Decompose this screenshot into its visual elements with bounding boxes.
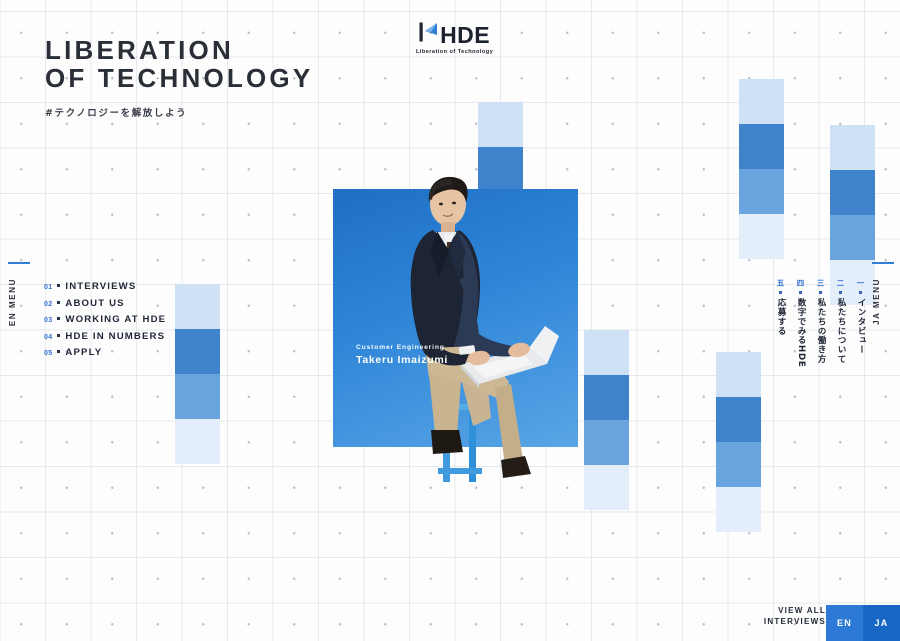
en-menu-item-apply[interactable]: 05 APPLY (44, 347, 166, 364)
language-switcher: EN JA (826, 605, 900, 641)
en-menu-rail-label: EN MENU (8, 278, 17, 326)
bullet-icon (839, 291, 842, 294)
ja-menu-item-label: 応募する (775, 298, 786, 336)
ja-menu-item-number: 二 (835, 279, 846, 287)
en-menu-rail: EN MENU (8, 262, 34, 326)
en-menu-item-label: HDE IN NUMBERS (65, 331, 165, 342)
bullet-icon (57, 334, 60, 337)
decor-tile (478, 147, 523, 192)
decor-tile-column (716, 352, 761, 532)
page-title-line-1: LIBERATION (45, 35, 234, 65)
ja-menu-item-apply[interactable]: 五 応募する (775, 279, 786, 336)
decor-tile (739, 124, 784, 169)
ja-menu-item-number: 五 (775, 279, 786, 287)
ja-menu-item-label: 数字でみるHDE (795, 298, 806, 368)
ja-menu-item-label: 私たちについて (835, 298, 846, 364)
en-menu-item-interviews[interactable]: 01 INTERVIEWS (44, 281, 166, 298)
en-menu-item-number: 04 (44, 334, 52, 341)
page-title-line-2: OF TECHNOLOGY (45, 63, 313, 93)
decor-tile (175, 419, 220, 464)
decor-tile (716, 397, 761, 442)
ja-menu: 一 インタビュー 二 私たちについて 三 私たちの働き方 四 数字でみるHDE … (775, 279, 866, 368)
decor-tile (584, 375, 629, 420)
bullet-icon (57, 284, 60, 287)
decor-tile (584, 330, 629, 375)
decor-tile (175, 329, 220, 374)
ja-menu-item-about-us[interactable]: 二 私たちについて (835, 279, 846, 364)
lang-button-ja[interactable]: JA (863, 605, 900, 641)
en-menu-item-label: INTERVIEWS (65, 281, 136, 292)
en-menu-item-number: 03 (44, 317, 52, 324)
decor-tile-column (175, 284, 220, 464)
bullet-icon (859, 291, 862, 294)
decor-tile (739, 169, 784, 214)
page-subtitle: #テクノロジーを解放しよう (45, 105, 313, 119)
bullet-icon (57, 317, 60, 320)
decor-tile-column (584, 330, 629, 510)
bullet-icon (57, 301, 60, 304)
ja-menu-item-label: 私たちの働き方 (815, 298, 826, 364)
decor-tile (478, 102, 523, 147)
decor-tile (584, 420, 629, 465)
bullet-icon (819, 291, 822, 294)
page-root: LIBERATION OF TECHNOLOGY #テクノロジーを解放しよう H… (0, 0, 900, 641)
en-menu-item-number: 05 (44, 350, 52, 357)
en-menu-item-number: 01 (44, 284, 52, 291)
decor-tile-column (830, 125, 875, 305)
ja-menu-item-interviews[interactable]: 一 インタビュー (855, 279, 866, 355)
hde-arrow-icon (419, 22, 438, 47)
ja-menu-rail-label: JA MENU (872, 278, 881, 325)
ja-menu-item-working-style[interactable]: 三 私たちの働き方 (815, 279, 826, 364)
hero-heading-block: LIBERATION OF TECHNOLOGY #テクノロジーを解放しよう (45, 36, 313, 119)
feature-photo-card[interactable]: Customer Engineering Takeru Imaizumi (333, 189, 578, 447)
en-menu-item-number: 02 (44, 301, 52, 308)
decor-tile (716, 352, 761, 397)
lang-button-en[interactable]: EN (826, 605, 863, 641)
en-menu-item-label: APPLY (65, 347, 102, 358)
decor-tile (716, 487, 761, 532)
page-title: LIBERATION OF TECHNOLOGY (45, 36, 313, 92)
en-menu-item-about-us[interactable]: 02 ABOUT US (44, 298, 166, 315)
logo-tagline: Liberation of Technology (416, 49, 493, 55)
logo-wordmark: HDE (440, 24, 490, 46)
ja-menu-item-label: インタビュー (855, 298, 866, 354)
en-menu-item-hde-in-numbers[interactable]: 04 HDE IN NUMBERS (44, 331, 166, 348)
decor-tile (739, 79, 784, 124)
site-logo[interactable]: HDE Liberation of Technology (416, 22, 493, 55)
ja-menu-item-number: 三 (815, 279, 826, 287)
ja-menu-item-number: 四 (795, 279, 806, 287)
ja-menu-item-number: 一 (855, 279, 866, 287)
view-all-line-2: INTERVIEWS (764, 616, 826, 627)
decor-tile (584, 465, 629, 510)
bullet-icon (799, 291, 802, 294)
decor-tile (716, 442, 761, 487)
en-menu-item-label: WORKING AT HDE (65, 314, 166, 325)
decor-tile (175, 284, 220, 329)
feature-role: Customer Engineering (356, 344, 448, 351)
decor-tile (830, 215, 875, 260)
feature-name: Takeru Imaizumi (356, 354, 448, 366)
rail-accent-line (8, 262, 30, 264)
logo-row: HDE (419, 22, 490, 47)
bullet-icon (779, 291, 782, 294)
ja-menu-item-hde-in-numbers[interactable]: 四 数字でみるHDE (795, 279, 806, 368)
decor-tile (739, 214, 784, 259)
bullet-icon (57, 350, 60, 353)
decor-tile (175, 374, 220, 419)
view-all-line-1: VIEW ALL (764, 605, 826, 616)
ja-menu-rail: JA MENU (872, 262, 898, 325)
decor-tile (830, 125, 875, 170)
view-all-interviews-link[interactable]: VIEW ALL INTERVIEWS (764, 605, 826, 627)
en-menu-item-working-at-hde[interactable]: 03 WORKING AT HDE (44, 314, 166, 331)
en-menu-item-label: ABOUT US (65, 298, 124, 309)
decor-tile-column (739, 79, 784, 259)
feature-caption: Customer Engineering Takeru Imaizumi (356, 344, 448, 366)
rail-accent-line (872, 262, 894, 264)
decor-tile (830, 170, 875, 215)
en-menu: 01 INTERVIEWS 02 ABOUT US 03 WORKING AT … (44, 281, 166, 364)
